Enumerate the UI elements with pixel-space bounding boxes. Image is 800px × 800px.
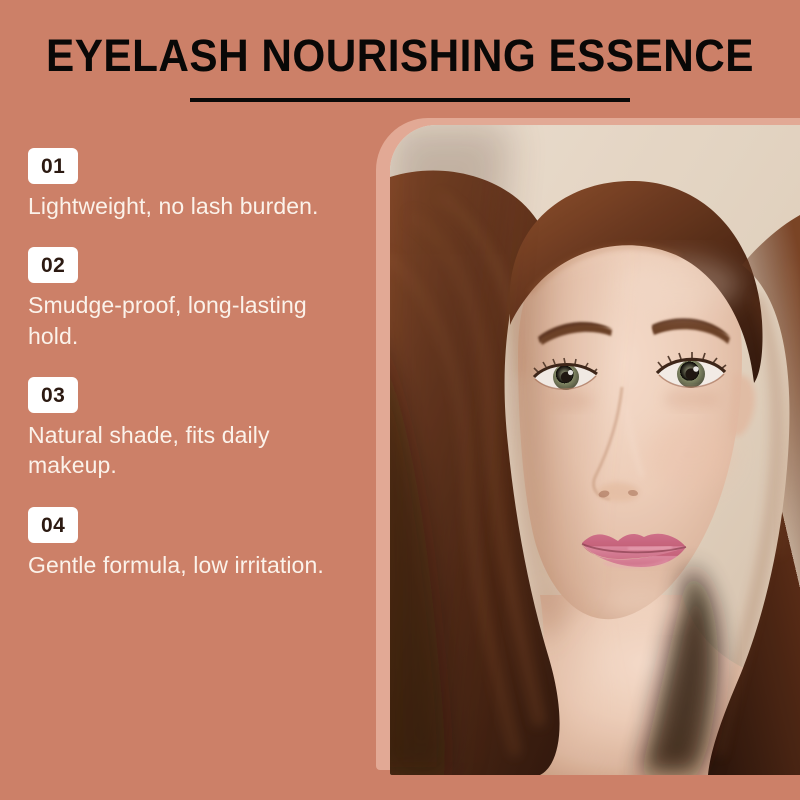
feature-description: Natural shade, fits daily makeup. [28, 420, 358, 481]
list-item: 02 Smudge-proof, long-lasting hold. [28, 247, 368, 351]
title-block: EYELASH NOURISHING ESSENCE [0, 32, 800, 79]
poster-canvas: EYELASH NOURISHING ESSENCE 01 Lightweigh… [0, 0, 800, 800]
list-item: 04 Gentle formula, low irritation. [28, 507, 368, 580]
list-item: 03 Natural shade, fits daily makeup. [28, 377, 368, 481]
feature-description: Gentle formula, low irritation. [28, 550, 358, 580]
feature-description: Lightweight, no lash burden. [28, 191, 358, 221]
feature-number-badge: 04 [28, 507, 78, 543]
feature-list: 01 Lightweight, no lash burden. 02 Smudg… [28, 148, 368, 580]
title-underline-rule [190, 98, 630, 102]
model-photo [390, 125, 800, 775]
list-item: 01 Lightweight, no lash burden. [28, 148, 368, 221]
feature-number-badge: 01 [28, 148, 78, 184]
feature-number-badge: 02 [28, 247, 78, 283]
feature-number-badge: 03 [28, 377, 78, 413]
page-title: EYELASH NOURISHING ESSENCE [24, 32, 776, 79]
feature-description: Smudge-proof, long-lasting hold. [28, 290, 358, 351]
